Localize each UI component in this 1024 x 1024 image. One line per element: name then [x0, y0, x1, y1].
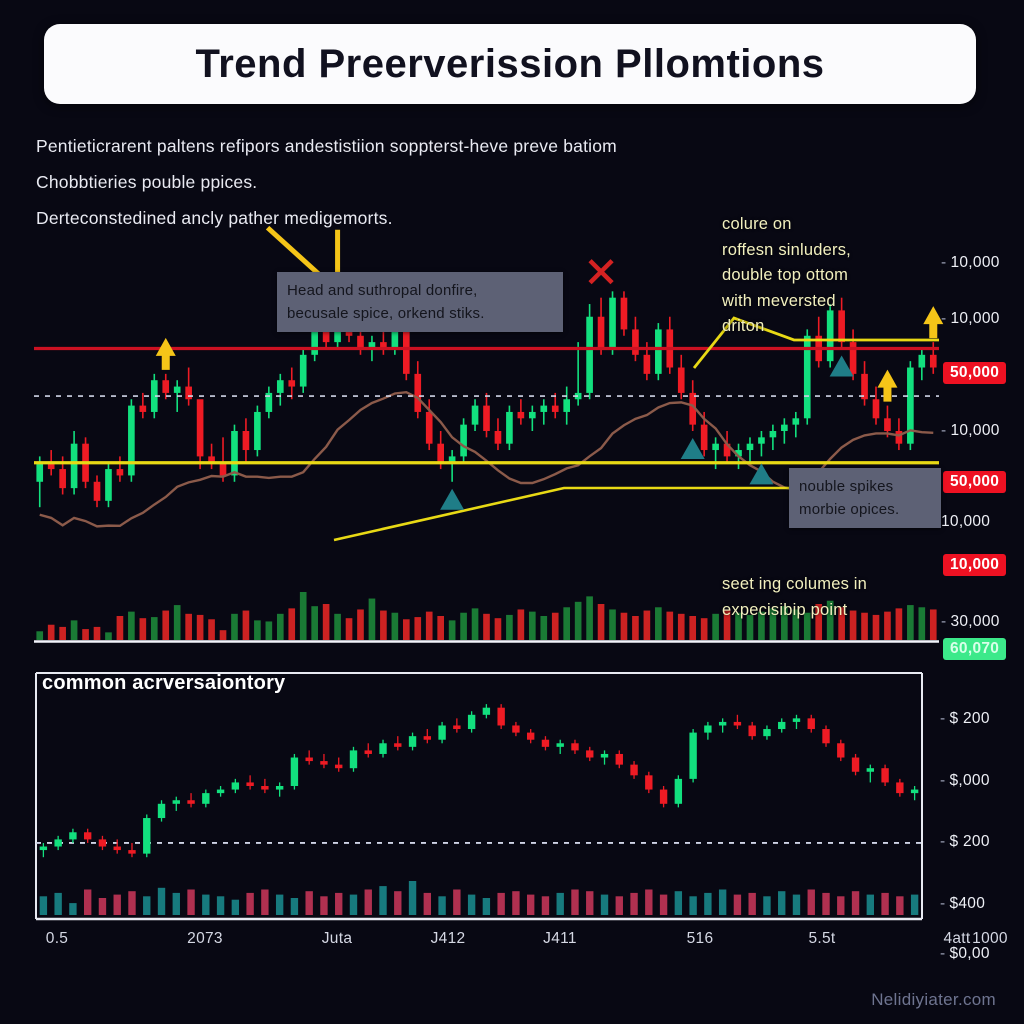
x-axis-tick-label: 516 — [687, 930, 714, 948]
axis-tick-dash: - — [941, 310, 946, 327]
axis-tick-dash: - — [941, 254, 946, 271]
price-axis-tick: -30,000 — [941, 613, 1000, 631]
sub-axis-tick-label: $400 — [949, 895, 985, 912]
annotation-double-spikes: nouble spikes morbie opices. — [789, 468, 941, 528]
sub-axis-tick-label: $ 200 — [949, 833, 989, 850]
price-axis-tick-label: 10,000 — [950, 422, 999, 439]
x-axis-tick-label: 0.5 — [46, 930, 68, 948]
x-axis: 0.52073JutaJ412J4115165.5t4att1000 — [0, 930, 1024, 960]
watermark: Nelidiyiater.com — [871, 990, 996, 1010]
price-axis: -10,000-10,00050,000-10,00050,00010,0001… — [939, 240, 1024, 660]
price-axis-tick-label: 30,000 — [950, 613, 999, 630]
price-axis-tick-label: 10,000 — [950, 254, 999, 271]
annotation-vol-line-1: seet ing columes in — [722, 572, 867, 598]
price-tag-red[interactable]: 50,000 — [943, 362, 1006, 384]
annotation-hs-line-1: Head and suthropal donfire, — [287, 279, 553, 302]
subtitle-line-1: Pentieticrarent paltens refipors andesti… — [36, 128, 856, 164]
axis-tick-dash: - — [940, 833, 945, 850]
price-axis-tick: -10,000 — [941, 310, 1000, 328]
axis-tick-dash: - — [940, 772, 945, 789]
x-axis-tick-label: 2073 — [187, 930, 223, 948]
sub-axis-tick: -$400 — [940, 895, 985, 913]
annotation-dt-line-3: double top ottom — [722, 263, 851, 289]
price-axis-tick: -10,000 — [941, 422, 1000, 440]
sub-axis-tick: -$ 200 — [940, 833, 990, 851]
axis-tick-dash: - — [941, 613, 946, 630]
sub-axis-tick: -$,000 — [940, 772, 990, 790]
sub-chart-canvas — [22, 665, 937, 930]
annotation-ds-line-1: nouble spikes — [799, 475, 931, 498]
annotation-vol-line-2: expecisibip point — [722, 598, 867, 624]
axis-tick-dash: - — [941, 422, 946, 439]
sub-axis-tick-label: $ 200 — [949, 710, 989, 727]
x-axis-tick-label: Juta — [322, 930, 353, 948]
x-axis-tick-label: J412 — [431, 930, 466, 948]
annotation-dt-line-5: driton — [722, 314, 851, 340]
price-tag-green[interactable]: 60,070 — [943, 638, 1006, 660]
x-axis-tick-label: J411 — [543, 930, 577, 948]
subtitle-line-2: Chobbtieries pouble ppices. — [36, 164, 856, 200]
annotation-head-and-shoulders: Head and suthropal donfire, becusale spi… — [277, 272, 563, 332]
annotation-dt-line-2: roffesn sinluders, — [722, 238, 851, 264]
price-axis-tick: 10,000 — [941, 513, 990, 531]
price-axis-tick: -10,000 — [941, 254, 1000, 272]
page-title: Trend Preerverission Pllomtions — [195, 42, 824, 87]
x-axis-tick-label: 5.5t — [808, 930, 835, 948]
annotation-dt-line-4: with meversted — [722, 289, 851, 315]
annotation-ds-line-2: morbie opices. — [799, 498, 931, 521]
page-title-pill: Trend Preerverission Pllomtions — [44, 24, 976, 104]
sub-price-chart[interactable]: common acrversaiontory — [22, 665, 937, 930]
sub-price-axis: -$ 200-$,000-$ 200-$400-$0,00 — [940, 700, 1020, 930]
price-axis-tick-label: 10,000 — [941, 513, 990, 530]
sub-axis-tick: -$ 200 — [940, 710, 990, 728]
annotation-double-top-note: colure on roffesn sinluders, double top … — [722, 212, 851, 340]
axis-tick-dash: - — [940, 895, 945, 912]
price-axis-tick-label: 10,000 — [950, 310, 999, 327]
sub-axis-tick-label: $,000 — [949, 772, 989, 789]
annotation-dt-line-1: colure on — [722, 212, 851, 238]
annotation-volume-note: seet ing columes in expecisibip point — [722, 572, 867, 623]
x-axis-tick-label: 1000 — [972, 930, 1008, 948]
x-axis-tick-label: 4att — [943, 930, 970, 948]
annotation-hs-line-2: becusale spice, orkend stiks. — [287, 302, 553, 325]
chart-infographic-root: Trend Preerverission Pllomtions Pentieti… — [0, 0, 1024, 1024]
price-tag-red[interactable]: 10,000 — [943, 554, 1006, 576]
axis-tick-dash: - — [940, 710, 945, 727]
sub-chart-title: common acrversaiontory — [42, 672, 285, 695]
price-tag-red[interactable]: 50,000 — [943, 471, 1006, 493]
